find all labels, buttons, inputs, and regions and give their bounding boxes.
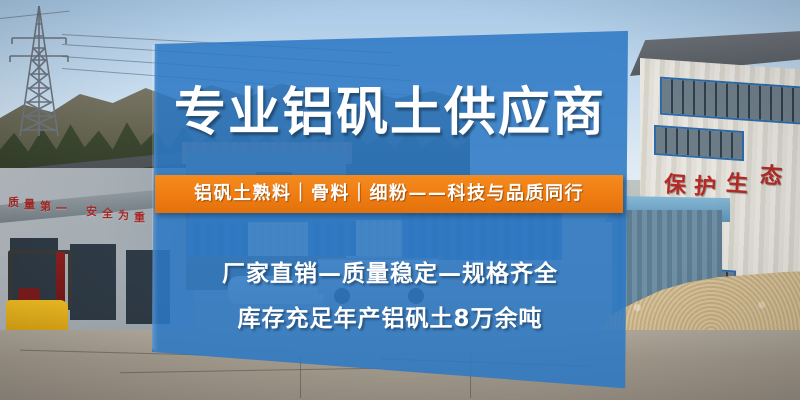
left-sign-char: 一: [56, 203, 67, 214]
eco-sign-char-1: 保: [663, 174, 686, 197]
banner-content: 专业铝矾土供应商 铝矾土熟料｜骨料｜细粉——科技与品质同行 厂家直销—质量稳定—…: [152, 28, 628, 392]
left-sign-char: 质: [8, 197, 19, 208]
tagline-text: 铝矾土熟料｜骨料｜细粉——科技与品质同行: [194, 184, 584, 204]
warehouse-door: [70, 244, 116, 320]
power-tower-icon: [4, 4, 74, 139]
page-title: 专业铝矾土供应商: [152, 84, 628, 142]
left-sign-char: 第: [40, 201, 51, 212]
left-sign-char: 安: [86, 206, 97, 217]
eco-sign-char-4: 态: [759, 165, 782, 188]
eco-sign-char-3: 生: [725, 173, 748, 196]
left-sign-char: 全: [102, 208, 113, 219]
left-sign-char: 为: [118, 210, 129, 221]
subline-2: 库存充足年产铝矾土8万余吨: [152, 305, 628, 333]
subline-1: 厂家直销—质量稳定—规格齐全: [152, 260, 628, 288]
tagline-ribbon: 铝矾土熟料｜骨料｜细粉——科技与品质同行: [155, 175, 623, 213]
left-sign-char: 量: [24, 199, 35, 210]
left-sign-char: 重: [134, 212, 145, 223]
banner-image: 质 量 第 一 安 全 为 重: [0, 0, 800, 400]
eco-sign-char-2: 护: [693, 176, 716, 199]
building-window: [654, 125, 744, 161]
